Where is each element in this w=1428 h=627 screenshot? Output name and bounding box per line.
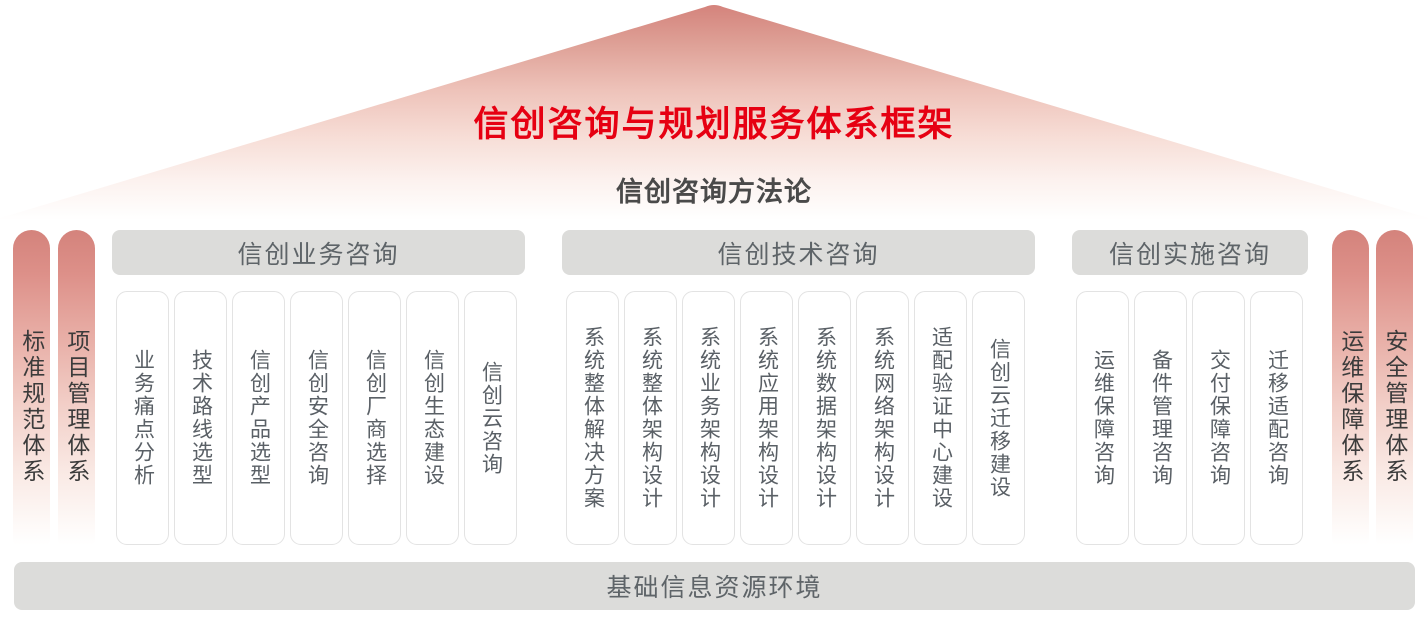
pillar-label: 运维保障体系: [1338, 329, 1363, 485]
card-label: 适配验证中心建设: [929, 326, 951, 510]
group-header-implementation-consulting[interactable]: 信创实施咨询: [1072, 230, 1308, 275]
card-label: 信创云迁移建设: [987, 338, 1009, 499]
foundation-bar[interactable]: 基础信息资源环境: [14, 562, 1415, 610]
page-subtitle: 信创咨询方法论: [0, 170, 1428, 209]
card-label: 系统应用架构设计: [755, 326, 777, 510]
group-header-technology-consulting[interactable]: 信创技术咨询: [562, 230, 1035, 275]
card-label: 系统整体架构设计: [639, 326, 661, 510]
card-label: 迁移适配咨询: [1265, 349, 1287, 487]
card-label: 系统数据架构设计: [813, 326, 835, 510]
card-item[interactable]: 运维保障咨询: [1076, 291, 1129, 545]
card-label: 运维保障咨询: [1091, 349, 1113, 487]
pillar-standard-spec-system[interactable]: 标准规范体系: [13, 230, 50, 545]
page-title: 信创咨询与规划服务体系框架: [0, 96, 1428, 147]
pillar-ops-guarantee-system[interactable]: 运维保障体系: [1332, 230, 1369, 545]
card-label: 信创产品选型: [247, 349, 269, 487]
group-header-business-consulting[interactable]: 信创业务咨询: [112, 230, 525, 275]
card-label: 信创生态建设: [421, 349, 443, 487]
card-label: 业务痛点分析: [131, 349, 153, 487]
card-item[interactable]: 迁移适配咨询: [1250, 291, 1303, 545]
card-item[interactable]: 信创云咨询: [464, 291, 517, 545]
pillar-project-management-system[interactable]: 项目管理体系: [58, 230, 95, 545]
card-item[interactable]: 系统业务架构设计: [682, 291, 735, 545]
card-item[interactable]: 信创生态建设: [406, 291, 459, 545]
card-label: 系统业务架构设计: [697, 326, 719, 510]
card-label: 技术路线选型: [189, 349, 211, 487]
card-item[interactable]: 技术路线选型: [174, 291, 227, 545]
pillar-label: 项目管理体系: [64, 329, 89, 485]
pillar-label: 安全管理体系: [1382, 329, 1407, 485]
card-label: 信创安全咨询: [305, 349, 327, 487]
card-item[interactable]: 系统整体解决方案: [566, 291, 619, 545]
card-item[interactable]: 系统网络架构设计: [856, 291, 909, 545]
card-item[interactable]: 信创安全咨询: [290, 291, 343, 545]
card-label: 信创云咨询: [479, 361, 501, 476]
card-item[interactable]: 适配验证中心建设: [914, 291, 967, 545]
diagram-canvas: 信创咨询与规划服务体系框架 信创咨询方法论 标准规范体系 项目管理体系 运维保障…: [0, 0, 1428, 627]
card-label: 交付保障咨询: [1207, 349, 1229, 487]
card-label: 系统网络架构设计: [871, 326, 893, 510]
card-item[interactable]: 交付保障咨询: [1192, 291, 1245, 545]
card-label: 备件管理咨询: [1149, 349, 1171, 487]
card-item[interactable]: 信创云迁移建设: [972, 291, 1025, 545]
pillar-security-management-system[interactable]: 安全管理体系: [1376, 230, 1413, 545]
card-item[interactable]: 系统应用架构设计: [740, 291, 793, 545]
pillar-label: 标准规范体系: [19, 329, 44, 485]
card-item[interactable]: 业务痛点分析: [116, 291, 169, 545]
card-label: 信创厂商选择: [363, 349, 385, 487]
card-item[interactable]: 信创厂商选择: [348, 291, 401, 545]
card-label: 系统整体解决方案: [581, 326, 603, 510]
card-item[interactable]: 系统整体架构设计: [624, 291, 677, 545]
card-item[interactable]: 备件管理咨询: [1134, 291, 1187, 545]
card-item[interactable]: 系统数据架构设计: [798, 291, 851, 545]
card-item[interactable]: 信创产品选型: [232, 291, 285, 545]
